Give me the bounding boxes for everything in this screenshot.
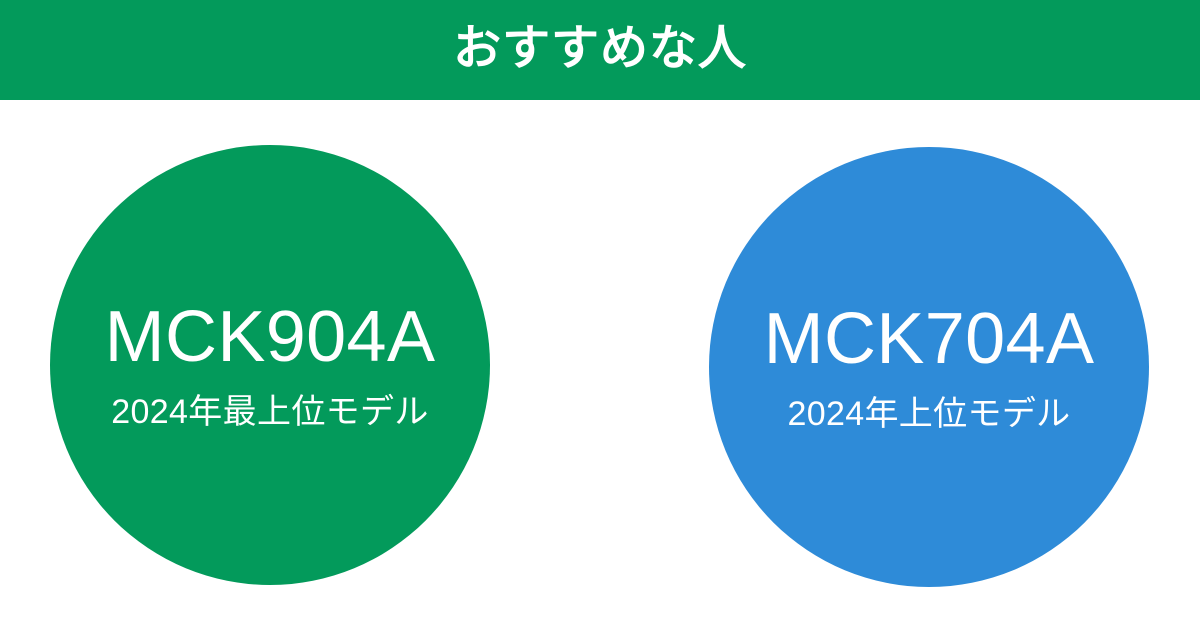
comparison-graphic: おすすめな人 MCK904A 2024年最上位モデル MCK704A 2024年… bbox=[0, 0, 1200, 630]
model-name-label: MCK704A bbox=[764, 303, 1095, 375]
model-name-label: MCK904A bbox=[105, 301, 436, 373]
model-circles-container: MCK904A 2024年最上位モデル MCK704A 2024年上位モデル bbox=[0, 100, 1200, 630]
model-caption-label: 2024年上位モデル bbox=[787, 397, 1070, 431]
model-circle-mck904a[interactable]: MCK904A 2024年最上位モデル bbox=[50, 145, 490, 585]
page-title: おすすめな人 bbox=[453, 25, 747, 75]
model-circle-mck704a[interactable]: MCK704A 2024年上位モデル bbox=[709, 147, 1149, 587]
model-caption-label: 2024年最上位モデル bbox=[111, 395, 428, 429]
header-band: おすすめな人 bbox=[0, 0, 1200, 100]
